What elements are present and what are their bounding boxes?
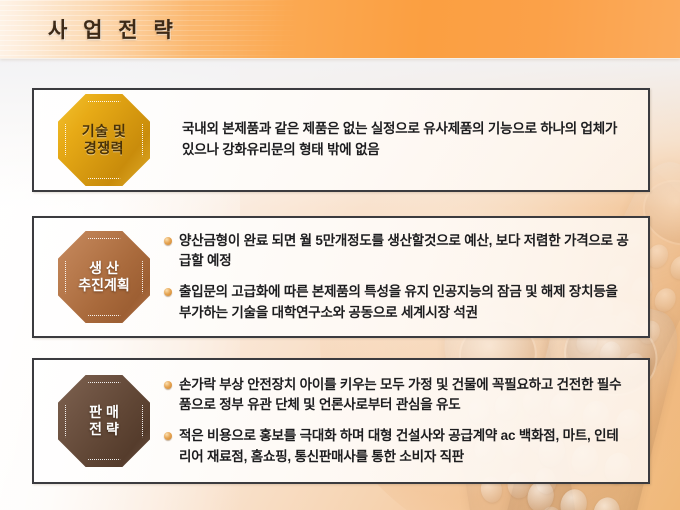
badge-label-line-1: 기술 및 xyxy=(82,123,127,140)
badge-label-line-1: 판 매 xyxy=(89,404,119,421)
badge-label-line-1: 생 산 xyxy=(89,260,119,277)
badge-container: 판 매 전 략 xyxy=(50,360,158,482)
octagon-badge-sales-strategy: 판 매 전 략 xyxy=(58,375,150,467)
badge-label-line-2: 추진계획 xyxy=(78,277,130,294)
badge-container: 생 산 추진계획 xyxy=(50,218,158,336)
list-item: 적은 비용으로 홍보를 극대화 하며 대형 건설사와 공급계약 ac 백화점, … xyxy=(164,426,630,467)
bullet-list: 손가락 부상 안전장치 아이를 키우는 모두 가정 및 건물에 꼭필요하고 건전… xyxy=(164,375,630,467)
badge-label-line-2: 경쟁력 xyxy=(84,140,124,157)
badge-label-line-2: 전 략 xyxy=(89,421,119,438)
content-section-production-plan: 생 산 추진계획 양산금형이 완료 되면 월 5만개정도를 생산할것으로 예산,… xyxy=(32,216,650,338)
list-item-text: 손가락 부상 안전장치 아이를 키우는 모두 가정 및 건물에 꼭필요하고 건전… xyxy=(179,377,621,413)
circle-bullet-icon xyxy=(164,432,172,440)
list-item-text: 출입문의 고급화에 따른 본제품의 특성을 유지 인공지능의 잠금 및 해제 장… xyxy=(179,284,618,320)
bullet-list: 양산금형이 완료 되면 월 5만개정도를 생산할것으로 예산, 보다 저렴한 가… xyxy=(164,231,630,323)
content-section-technology: 기술 및 경쟁력 국내외 본제품과 같은 제품은 없는 실정으로 유사제품의 기… xyxy=(32,88,650,192)
badge-container: 기술 및 경쟁력 xyxy=(50,90,158,190)
list-item-text: 적은 비용으로 홍보를 극대화 하며 대형 건설사와 공급계약 ac 백화점, … xyxy=(179,428,619,464)
presentation-slide: 사 업 전 략 기술 및 경쟁력 국내외 본제품과 같은 제품은 없는 실정으로… xyxy=(0,0,680,510)
page-title: 사 업 전 략 xyxy=(48,14,178,44)
section-body-technology: 국내외 본제품과 같은 제품은 없는 실정으로 유사제품의 기능으로 하나의 업… xyxy=(158,119,648,160)
circle-bullet-icon xyxy=(164,237,172,245)
content-section-sales-strategy: 판 매 전 략 손가락 부상 안전장치 아이를 키우는 모두 가정 및 건물에 … xyxy=(32,358,650,484)
section-body-sales-strategy: 손가락 부상 안전장치 아이를 키우는 모두 가정 및 건물에 꼭필요하고 건전… xyxy=(158,375,648,467)
circle-bullet-icon xyxy=(164,381,172,389)
section-paragraph: 국내외 본제품과 같은 제품은 없는 실정으로 유사제품의 기능으로 하나의 업… xyxy=(164,119,630,160)
octagon-badge-technology: 기술 및 경쟁력 xyxy=(58,94,150,186)
list-item: 양산금형이 완료 되면 월 5만개정도를 생산할것으로 예산, 보다 저렴한 가… xyxy=(164,231,630,272)
list-item-text: 양산금형이 완료 되면 월 5만개정도를 생산할것으로 예산, 보다 저렴한 가… xyxy=(179,233,629,269)
list-item: 출입문의 고급화에 따른 본제품의 특성을 유지 인공지능의 잠금 및 해제 장… xyxy=(164,282,630,323)
section-body-production-plan: 양산금형이 완료 되면 월 5만개정도를 생산할것으로 예산, 보다 저렴한 가… xyxy=(158,231,648,323)
circle-bullet-icon xyxy=(164,288,172,296)
octagon-badge-production-plan: 생 산 추진계획 xyxy=(58,231,150,323)
list-item: 손가락 부상 안전장치 아이를 키우는 모두 가정 및 건물에 꼭필요하고 건전… xyxy=(164,375,630,416)
